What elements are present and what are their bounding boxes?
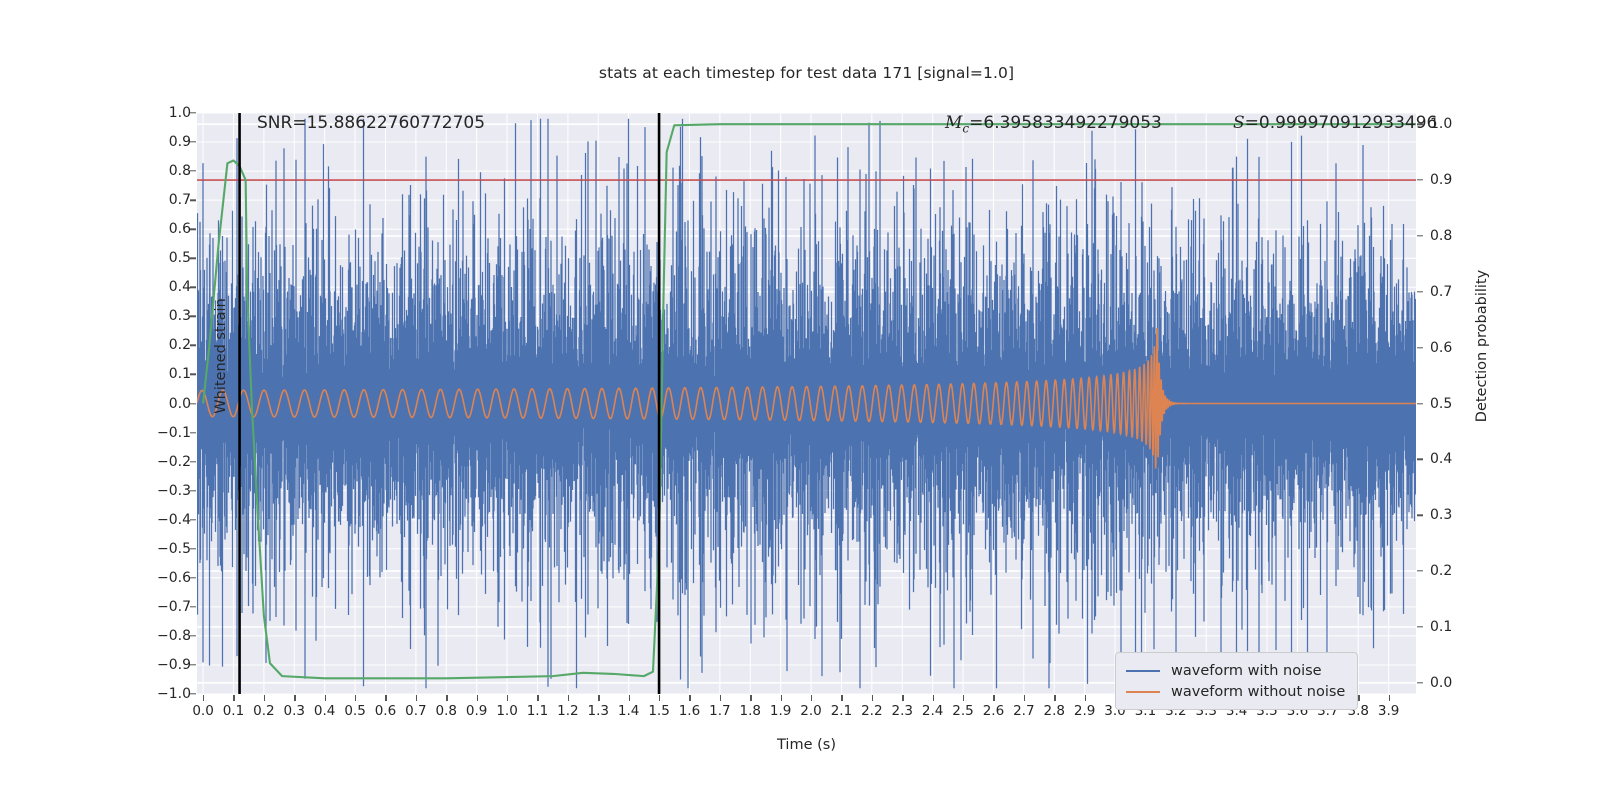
- y-tick-mark-left: [190, 258, 196, 259]
- legend-color-swatch: [1126, 670, 1160, 672]
- x-axis-label: Time (s): [197, 737, 1416, 753]
- y-tick-label-left: 0.5: [131, 250, 191, 266]
- y-tick-label-left: 0.2: [131, 337, 191, 353]
- y-tick-label-left: −0.3: [131, 483, 191, 499]
- y-tick-mark-left: [190, 693, 196, 694]
- y-axis-label-left: Whitened strain: [213, 256, 229, 456]
- y-tick-label-left: 0.3: [131, 308, 191, 324]
- y-tick-label-right: 0.0: [1430, 675, 1490, 691]
- y-tick-label-left: −0.7: [131, 599, 191, 615]
- y-tick-mark-right: [1417, 179, 1423, 180]
- x-tick-mark: [568, 695, 569, 701]
- y-tick-mark-right: [1417, 403, 1423, 404]
- y-tick-mark-left: [190, 403, 196, 404]
- x-tick-mark: [781, 695, 782, 701]
- y-tick-mark-left: [190, 432, 196, 433]
- y-tick-label-left: 1.0: [131, 105, 191, 121]
- figure-canvas: stats at each timestep for test data 171…: [0, 0, 1600, 800]
- y-tick-label-left: −0.2: [131, 454, 191, 470]
- y-tick-mark-left: [190, 228, 196, 229]
- y-tick-mark-left: [190, 199, 196, 200]
- x-tick-mark: [811, 695, 812, 701]
- y-tick-label-left: 0.7: [131, 192, 191, 208]
- x-tick-mark: [416, 695, 417, 701]
- x-tick-mark: [689, 695, 690, 701]
- y-tick-label-left: −1.0: [131, 686, 191, 702]
- x-tick-mark: [1085, 695, 1086, 701]
- x-tick-mark: [203, 695, 204, 701]
- y-tick-mark-left: [190, 635, 196, 636]
- y-tick-mark-right: [1417, 235, 1423, 236]
- y-tick-label-right: 0.7: [1430, 284, 1490, 300]
- x-tick-mark: [963, 695, 964, 701]
- legend-item-1[interactable]: waveform without noise: [1126, 681, 1345, 702]
- x-tick-mark: [1358, 695, 1359, 701]
- x-tick-mark: [933, 695, 934, 701]
- x-tick-mark: [1054, 695, 1055, 701]
- x-tick-mark: [720, 695, 721, 701]
- plot-svg: [197, 113, 1416, 694]
- x-tick-mark: [598, 695, 599, 701]
- x-tick-mark: [355, 695, 356, 701]
- x-tick-mark: [477, 695, 478, 701]
- y-tick-mark-right: [1417, 682, 1423, 683]
- y-tick-label-right: 0.9: [1430, 172, 1490, 188]
- y-tick-mark-right: [1417, 626, 1423, 627]
- y-tick-label-right: 0.8: [1430, 228, 1490, 244]
- y-tick-label-left: 0.6: [131, 221, 191, 237]
- y-tick-mark-left: [190, 345, 196, 346]
- y-tick-mark-left: [190, 112, 196, 113]
- s-symbol: S: [1233, 113, 1245, 133]
- y-tick-mark-left: [190, 374, 196, 375]
- y-tick-label-right: 0.1: [1430, 619, 1490, 635]
- y-tick-mark-left: [190, 316, 196, 317]
- y-tick-label-left: −0.1: [131, 425, 191, 441]
- legend-label: waveform with noise: [1171, 663, 1322, 679]
- y-tick-label-left: −0.4: [131, 512, 191, 528]
- y-tick-label-left: −0.9: [131, 657, 191, 673]
- y-tick-mark-right: [1417, 459, 1423, 460]
- y-tick-label-left: 0.4: [131, 279, 191, 295]
- x-tick-mark: [659, 695, 660, 701]
- y-tick-mark-right: [1417, 570, 1423, 571]
- y-tick-mark-left: [190, 141, 196, 142]
- legend-label: waveform without noise: [1171, 684, 1345, 700]
- y-tick-mark-right: [1417, 291, 1423, 292]
- y-tick-mark-left: [190, 606, 196, 607]
- y-tick-label-left: −0.5: [131, 541, 191, 557]
- annotation-chirp-mass: Mc=6.395833492279053: [945, 113, 1162, 135]
- y-tick-label-left: 0.0: [131, 396, 191, 412]
- y-tick-mark-left: [190, 577, 196, 578]
- y-tick-label-right: 0.2: [1430, 563, 1490, 579]
- x-tick-mark: [264, 695, 265, 701]
- y-tick-label-left: 0.9: [131, 134, 191, 150]
- y-tick-mark-left: [190, 490, 196, 491]
- y-tick-label-left: −0.6: [131, 570, 191, 586]
- y-tick-label-left: 0.1: [131, 366, 191, 382]
- mc-symbol: M: [945, 113, 962, 133]
- x-tick-mark: [1389, 695, 1390, 701]
- x-tick-mark: [537, 695, 538, 701]
- y-tick-label-right: 0.6: [1430, 340, 1490, 356]
- y-tick-mark-right: [1417, 347, 1423, 348]
- y-tick-label-right: 0.4: [1430, 451, 1490, 467]
- x-tick-mark: [629, 695, 630, 701]
- x-tick-mark: [507, 695, 508, 701]
- x-tick-mark: [1024, 695, 1025, 701]
- y-tick-label-right: 1.0: [1430, 116, 1490, 132]
- annotation-score: S=0.999970912933496: [1233, 113, 1437, 133]
- x-tick-mark: [294, 695, 295, 701]
- annotation-snr: SNR=15.88622760772705: [257, 113, 485, 133]
- s-value: =0.999970912933496: [1245, 113, 1438, 133]
- legend-color-swatch: [1126, 691, 1160, 693]
- y-tick-mark-left: [190, 519, 196, 520]
- x-tick-mark: [872, 695, 873, 701]
- y-tick-mark-left: [190, 287, 196, 288]
- x-tick-mark: [446, 695, 447, 701]
- y-tick-mark-left: [190, 461, 196, 462]
- x-tick-mark: [233, 695, 234, 701]
- legend[interactable]: waveform with noisewaveform without nois…: [1115, 652, 1358, 710]
- x-tick-mark: [750, 695, 751, 701]
- y-tick-mark-left: [190, 548, 196, 549]
- y-tick-mark-right: [1417, 515, 1423, 516]
- y-tick-mark-right: [1417, 123, 1423, 124]
- y-tick-label-right: 0.3: [1430, 507, 1490, 523]
- y-tick-label-left: 0.8: [131, 163, 191, 179]
- legend-item-0[interactable]: waveform with noise: [1126, 660, 1345, 681]
- y-tick-label-left: −0.8: [131, 628, 191, 644]
- x-tick-mark: [902, 695, 903, 701]
- x-tick-label: 3.9: [1364, 703, 1414, 719]
- x-tick-mark: [325, 695, 326, 701]
- x-tick-mark: [385, 695, 386, 701]
- plot-axes[interactable]: SNR=15.88622760772705 Mc=6.3958334922790…: [197, 113, 1416, 694]
- y-tick-label-right: 0.5: [1430, 396, 1490, 412]
- y-tick-mark-left: [190, 170, 196, 171]
- x-tick-mark: [841, 695, 842, 701]
- mc-value: =6.395833492279053: [969, 113, 1162, 133]
- y-tick-mark-left: [190, 664, 196, 665]
- page-title: stats at each timestep for test data 171…: [197, 64, 1416, 82]
- x-tick-mark: [993, 695, 994, 701]
